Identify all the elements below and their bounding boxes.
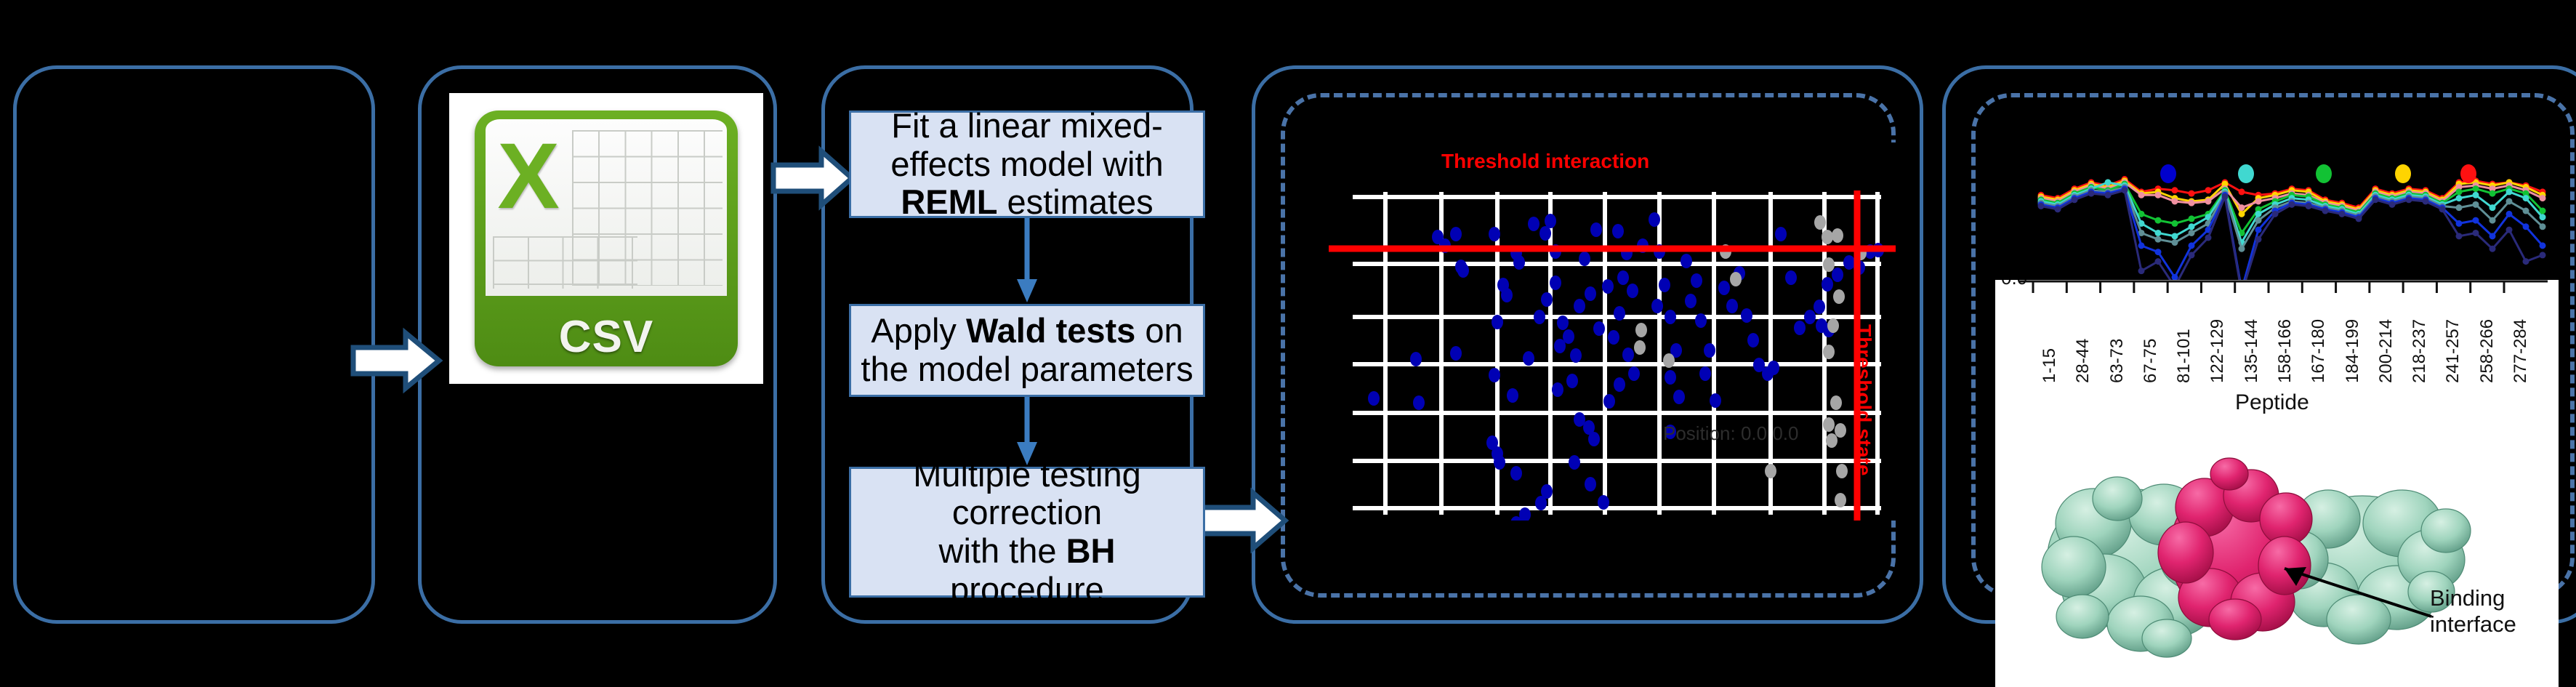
x-axis-title: Peptide [2235, 390, 2309, 415]
arrow-data-to-analysis [769, 145, 856, 211]
connector-model-to-wald [1014, 218, 1040, 304]
step-correction-post3: procedure [950, 570, 1104, 608]
legend-dot-green [2316, 164, 2332, 183]
csv-file-icon: X CSV [449, 93, 763, 384]
x-axis-tick-label: 135-144 [2242, 319, 2262, 383]
scatter-plot-vertical-title: Threshold state [1852, 324, 1875, 475]
panel-input [13, 65, 375, 624]
scatter-plot: Threshold interaction [1329, 142, 1896, 521]
x-axis-tick-label: 200-214 [2376, 319, 2396, 383]
scatter-plot-annotation: Position: 0.0 0.0 [1663, 422, 1798, 445]
scatter-plot-canvas [1329, 142, 1896, 521]
step-model-line2: effects model with [890, 145, 1163, 183]
x-axis-tick-label: 63-73 [2107, 339, 2128, 383]
step-wald-box[interactable]: Apply Wald tests on the model parameters [849, 304, 1205, 397]
step-model-bold: REML [901, 182, 997, 221]
step-wald-pre: Apply [871, 311, 966, 350]
legend-dot-cyan [2238, 164, 2254, 183]
x-axis-tick-label: 218-237 [2410, 319, 2430, 383]
step-correction-bold: BH [1066, 531, 1116, 570]
x-axis-tick-label: 81-101 [2174, 329, 2194, 383]
step-model-line1: Fit a linear mixed- [891, 106, 1163, 145]
step-model-box[interactable]: Fit a linear mixed- effects model with R… [849, 111, 1205, 218]
step-correction-pre3: with the [939, 531, 1066, 570]
csv-icon-label: CSV [475, 311, 738, 363]
arrow-analysis-to-results [1198, 487, 1289, 554]
x-axis-tick-label: 184-199 [2343, 319, 2363, 383]
x-axis-line [1995, 280, 2559, 299]
x-axis-tick-label: 277-284 [2511, 319, 2531, 383]
structure-figure-card: 0.0 1-1528-4463-7367-7581-101122-129135-… [1995, 280, 2559, 687]
x-axis-tick-label: 158-166 [2275, 319, 2295, 383]
legend-dot-red [2460, 164, 2476, 183]
connector-wald-to-correction [1014, 397, 1040, 467]
csv-icon-body: X CSV [475, 111, 738, 366]
binding-interface-line2: interface [2430, 611, 2516, 637]
step-wald-bold: Wald tests [966, 311, 1135, 350]
legend-dot-yellow [2395, 164, 2411, 183]
binding-interface-line1: Binding [2430, 585, 2505, 611]
x-axis-tick-label: 1-15 [2040, 348, 2060, 383]
step-correction-text: Multiple testing correction with the BH … [858, 456, 1196, 609]
step-correction-line2: correction [952, 493, 1102, 531]
csv-card: X CSV [449, 93, 763, 384]
step-correction-box[interactable]: Multiple testing correction with the BH … [849, 467, 1205, 598]
x-axis-tick-label: 122-129 [2207, 319, 2228, 383]
csv-icon-sheet: X [486, 119, 727, 296]
legend-dot-blue [2160, 164, 2176, 183]
x-axis-tick-label: 258-266 [2477, 319, 2497, 383]
arrow-input-to-data [349, 327, 443, 394]
step-model-line3: estimates [997, 182, 1153, 221]
csv-icon-letter: X [497, 123, 559, 230]
x-axis-tick-label: 28-44 [2073, 339, 2093, 383]
csv-icon-grid-lower [493, 236, 637, 289]
x-axis-tick-label: 167-180 [2309, 319, 2329, 383]
step-wald-line2: the model parameters [861, 350, 1193, 388]
x-axis-tick-label: 241-257 [2443, 319, 2463, 383]
x-axis-tick-label: 67-75 [2141, 339, 2161, 383]
binding-interface-label: Binding interface [2430, 585, 2516, 637]
step-wald-post: on [1135, 311, 1183, 350]
step-wald-text: Apply Wald tests on the model parameters [861, 312, 1193, 388]
step-model-text: Fit a linear mixed- effects model with R… [890, 107, 1163, 222]
